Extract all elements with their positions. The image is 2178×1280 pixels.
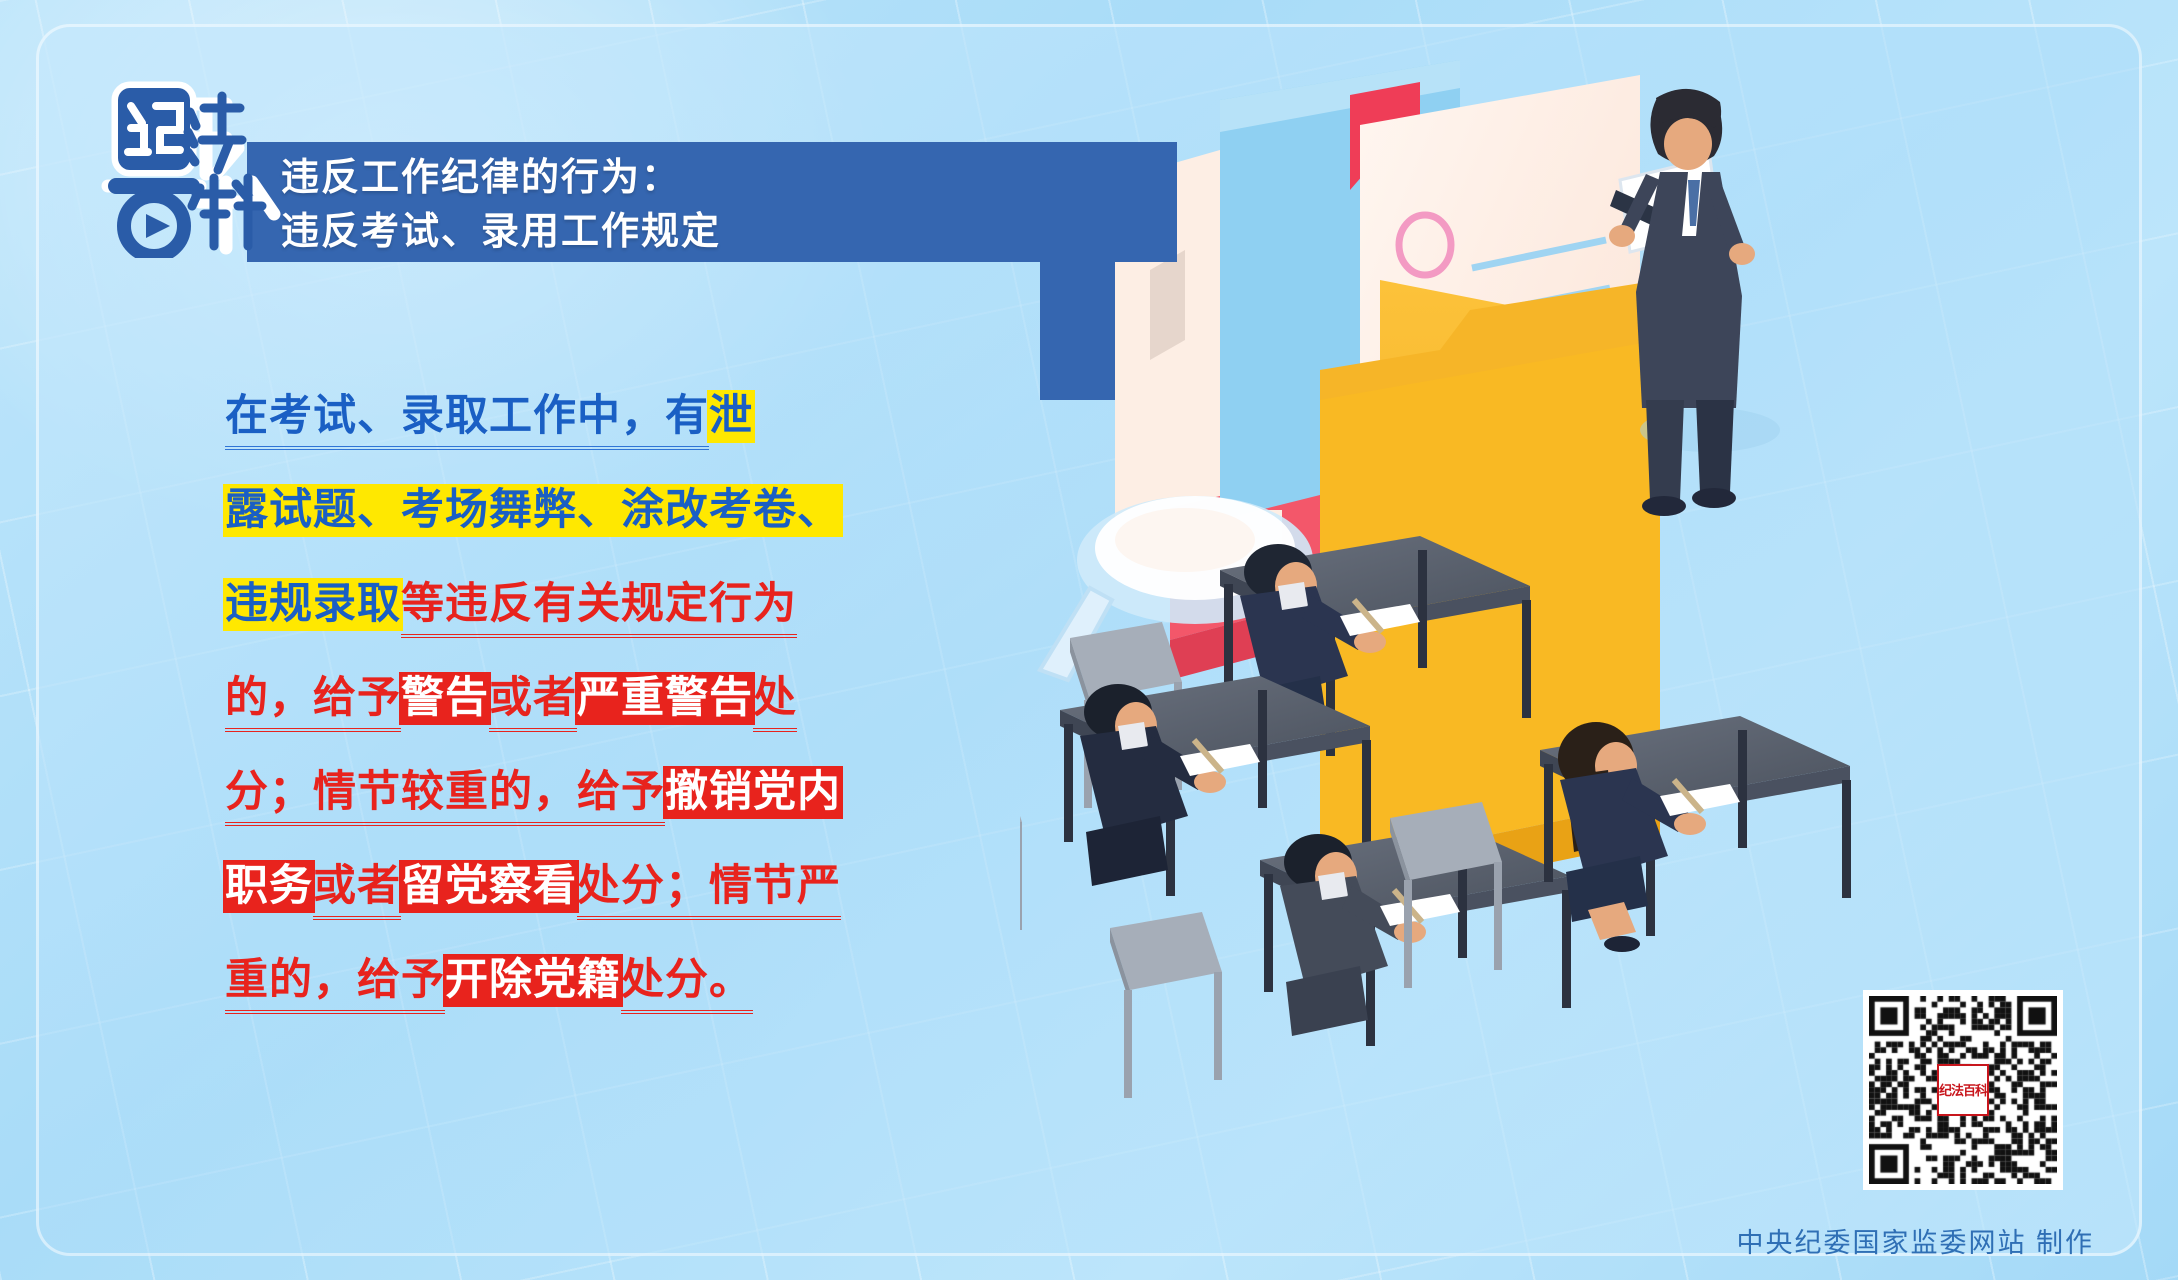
body-line: 分；情节较重的，给予撤销党内 (225, 746, 905, 840)
text-segment: 留党察看 (401, 862, 577, 911)
body-line: 职务或者留党察看处分；情节严 (225, 840, 905, 934)
footer-credit: 中央纪委国家监委网站 制作 (1736, 1221, 2094, 1260)
jifa-baike-logo (100, 78, 290, 258)
text-segment: 的，给予 (225, 674, 401, 732)
text-segment: 违规录取 (225, 580, 401, 629)
text-segment: 处分。 (621, 956, 753, 1014)
text-segment: 泄 (709, 392, 753, 441)
invigilator-leg-left (1646, 400, 1684, 500)
page-title: 违反工作纪律的行为： 违反考试、录用工作规定 (281, 152, 1181, 260)
text-segment: 撤销党内 (665, 768, 841, 817)
text-segment: 处分；情节严 (577, 862, 841, 920)
logo-play-triangle (146, 214, 170, 238)
invigilator-head (1664, 118, 1712, 170)
body-line: 的，给予警告或者严重警告处 (225, 652, 905, 746)
chair (1020, 762, 1022, 948)
chair (1110, 912, 1222, 1098)
text-segment: 职务 (225, 862, 313, 911)
qr-code[interactable]: 纪法百科 (1863, 990, 2063, 1190)
text-segment: 分；情节较重的，给予 (225, 768, 665, 826)
text-segment: 或者 (313, 862, 401, 920)
text-segment: 开除党籍 (445, 956, 621, 1005)
text-segment: 露试题、考场舞弊、涂改考卷、 (225, 486, 841, 535)
text-segment: 在考试、录取工作中，有 (225, 392, 709, 450)
body-line: 在考试、录取工作中，有泄 (225, 370, 905, 464)
body-paragraph: 在考试、录取工作中，有泄 露试题、考场舞弊、涂改考卷、 违规录取等违反有关规定行… (225, 370, 905, 1028)
invigilator-leg-right (1696, 400, 1734, 492)
text-segment: 或者 (489, 674, 577, 732)
text-segment: 警告 (401, 674, 489, 723)
text-segment: 重的，给予 (225, 956, 445, 1014)
text-segment: 严重警告 (577, 674, 753, 723)
body-line: 重的，给予开除党籍处分。 (225, 934, 905, 1028)
poster-root: 违反工作纪律的行为： 违反考试、录用工作规定 (0, 0, 2178, 1280)
text-segment: 等违反有关规定行为 (401, 580, 797, 638)
body-line: 违规录取等违反有关规定行为 (225, 558, 905, 652)
qr-center-logo: 纪法百科 (1937, 1064, 1989, 1116)
body-line: 露试题、考场舞弊、涂改考卷、 (225, 464, 905, 558)
text-segment: 处 (753, 674, 797, 732)
